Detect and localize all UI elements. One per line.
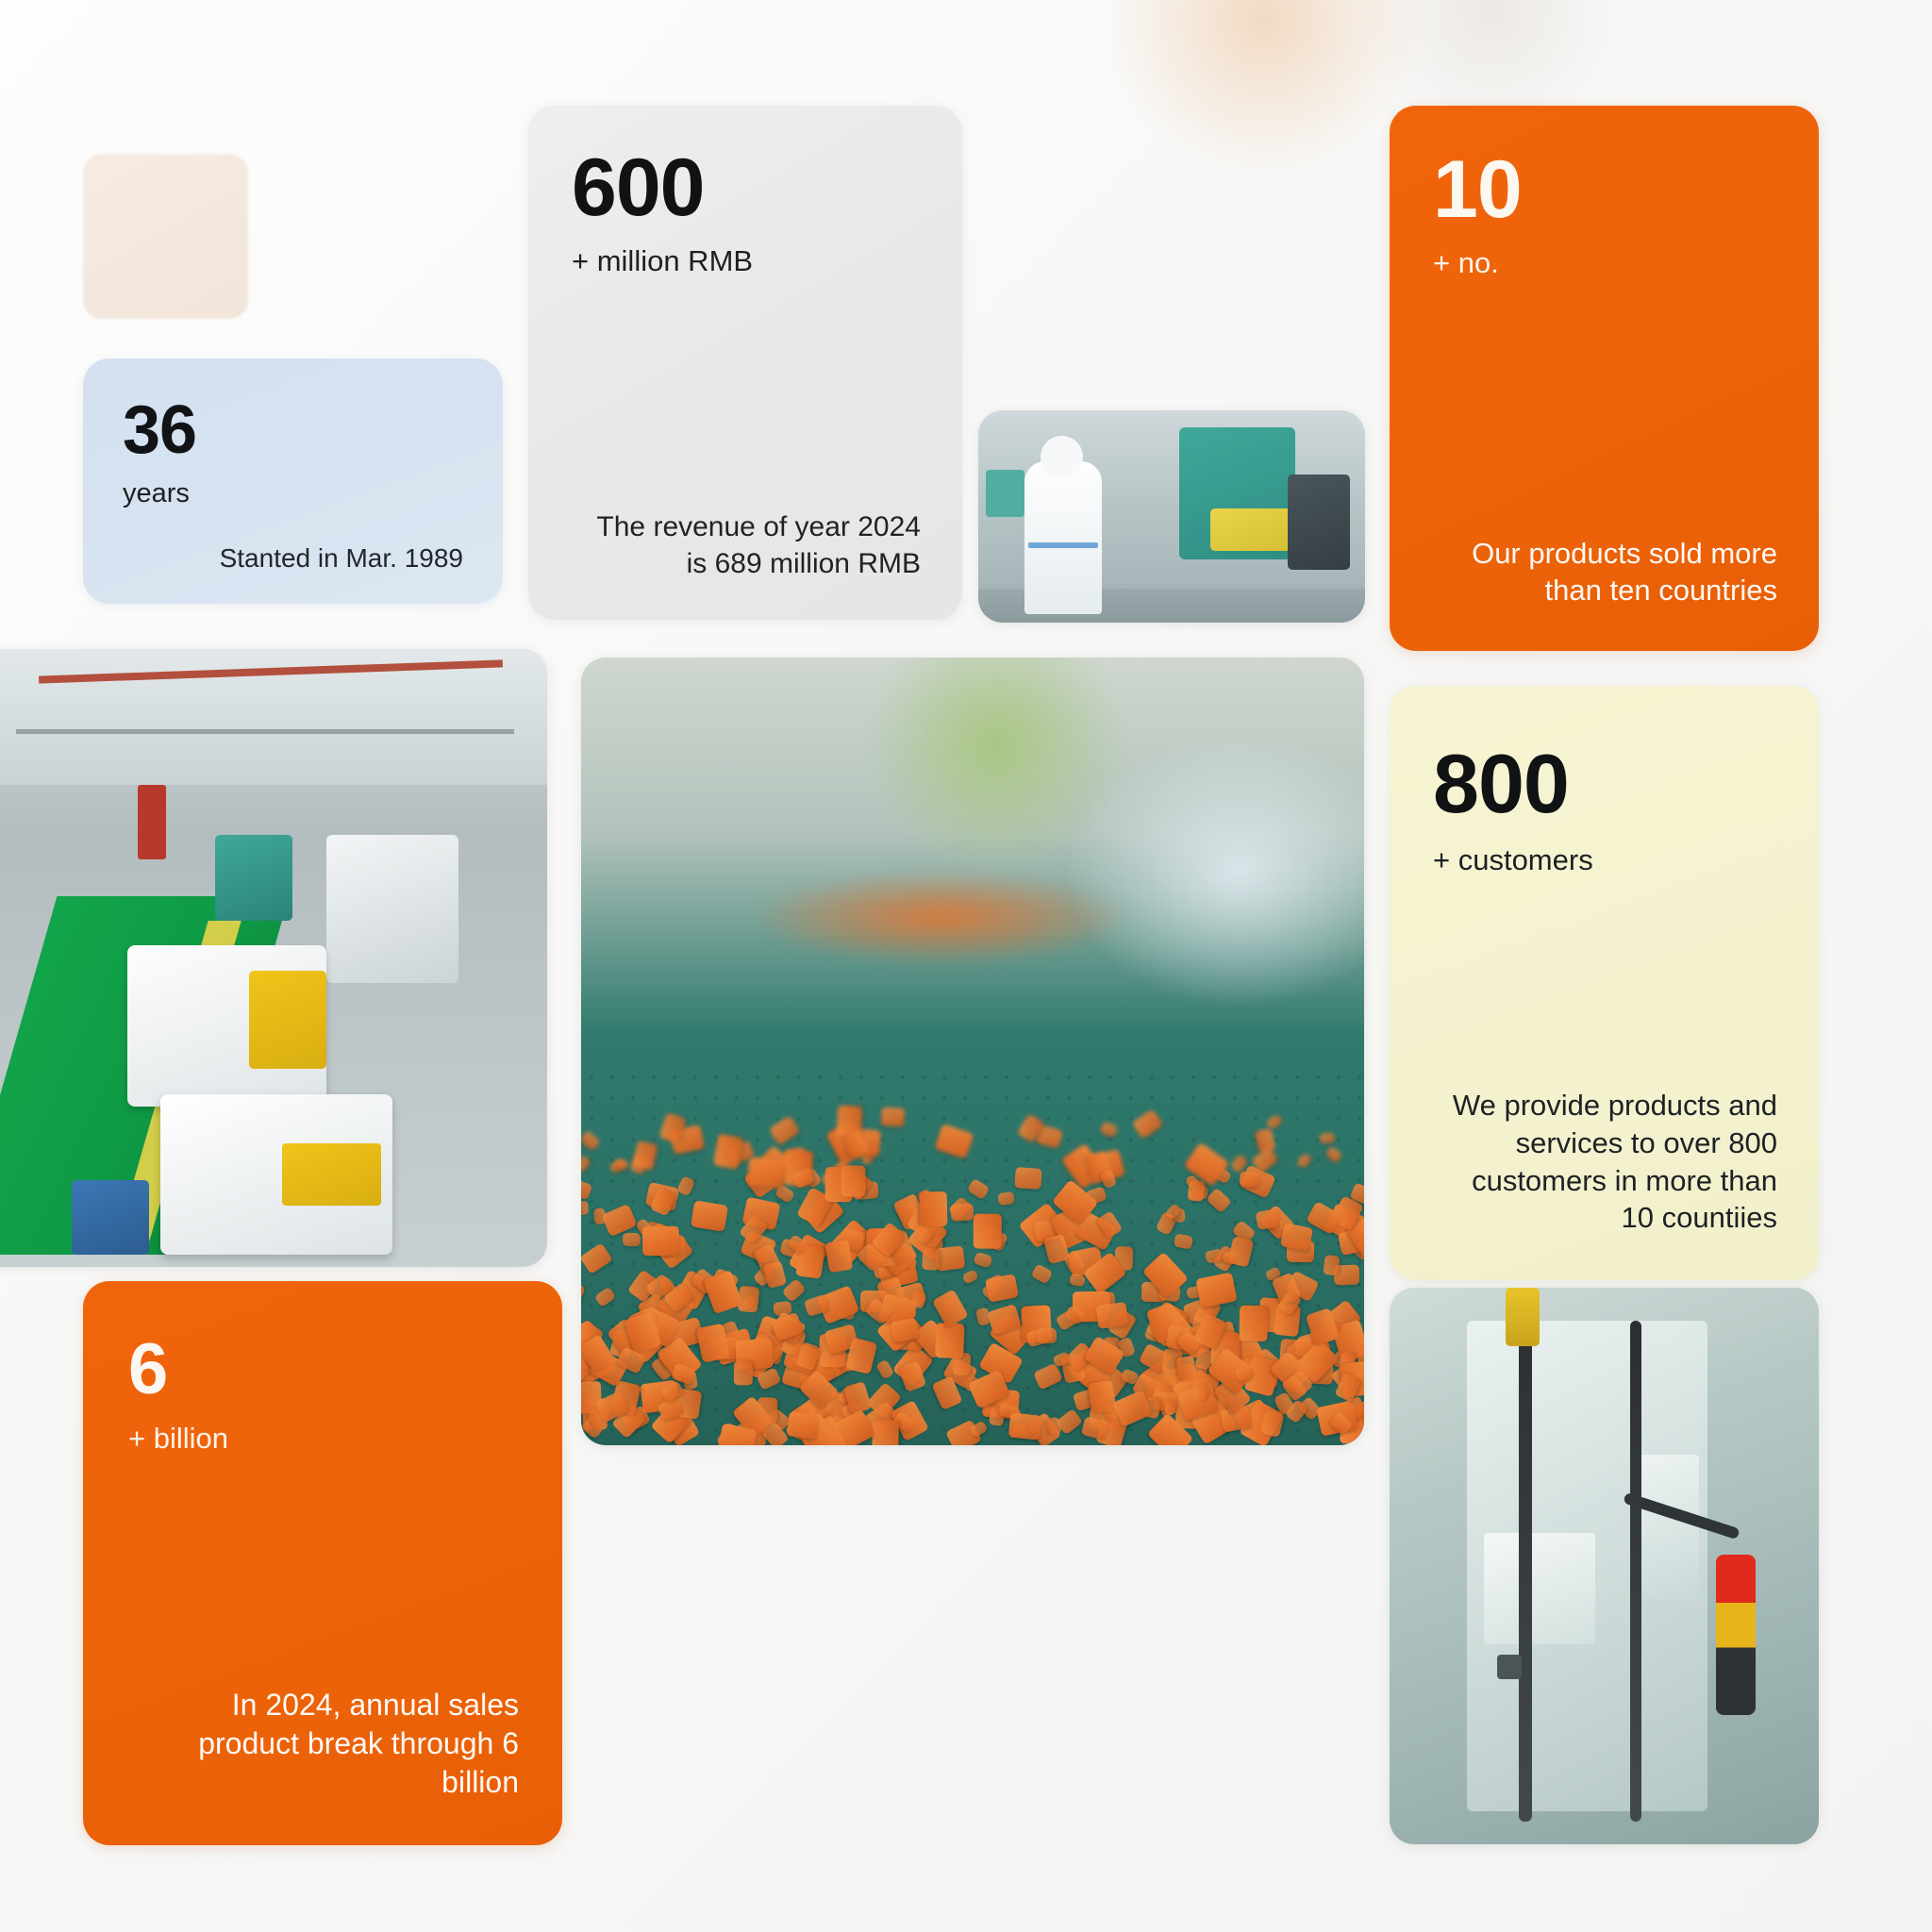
cleanroom-operator-photo [978, 410, 1365, 623]
automation-machinery-photo [1390, 1288, 1819, 1844]
pellet [786, 1411, 819, 1439]
pellet [962, 1269, 979, 1284]
stat-unit-customers: + customers [1433, 842, 1777, 877]
pellet [768, 1115, 800, 1145]
photo-beam-grey [16, 729, 513, 734]
pellet [1196, 1272, 1238, 1307]
pellet [1323, 1255, 1340, 1276]
pellet [872, 1420, 898, 1445]
stat-number-billion: 6 [128, 1334, 519, 1406]
pellet [1295, 1153, 1312, 1170]
stat-description-billion: In 2024, annual sales product break thro… [128, 1686, 519, 1802]
pellet [1206, 1187, 1232, 1212]
stat-card-years[interactable]: 36 years Stanted in Mar. 1989 [83, 358, 503, 604]
pellet [890, 1318, 919, 1342]
photo-machine-far [326, 835, 459, 983]
pellet [1031, 1263, 1054, 1284]
pellet [632, 1141, 658, 1171]
pellet [581, 1129, 601, 1151]
pellet [1324, 1145, 1343, 1164]
pellet [974, 1213, 1002, 1249]
photo-pellet-pile [581, 1083, 1364, 1445]
pellet [1175, 1356, 1197, 1382]
pellet [919, 1191, 947, 1226]
pellet [734, 1360, 753, 1385]
stat-card-revenue[interactable]: 600 + million RMB The revenue of year 20… [528, 106, 962, 620]
pellet [581, 1178, 592, 1201]
pellet [1095, 1302, 1128, 1329]
photo-worker-body [1024, 461, 1102, 614]
pellet [985, 1274, 1019, 1303]
pellet [1036, 1327, 1056, 1342]
pellet [997, 1191, 1015, 1206]
pellet [1280, 1223, 1314, 1251]
pellet [1260, 1409, 1285, 1438]
pellet [1014, 1167, 1041, 1190]
stat-description-customers: We provide products and services to over… [1433, 1087, 1777, 1237]
pellet [594, 1287, 616, 1307]
pellet [1164, 1400, 1176, 1415]
stat-number-revenue: 600 [572, 147, 921, 228]
pellet [1132, 1108, 1164, 1140]
pellet [676, 1175, 695, 1197]
pellet [581, 1201, 589, 1215]
decorative-square [83, 154, 248, 319]
pellet [974, 1251, 993, 1268]
pellet [642, 1225, 680, 1256]
photo-machine-yellow [1210, 508, 1295, 551]
pellet [747, 1157, 787, 1189]
pellet [1173, 1233, 1192, 1249]
photo-far-pellets [754, 870, 1129, 964]
orange-pellets-photo [581, 658, 1364, 1445]
factory-hall-photo [0, 649, 547, 1267]
pellet [581, 1242, 613, 1274]
stat-description-revenue: The revenue of year 2024 is 689 million … [572, 509, 921, 582]
photo-machine-teal [215, 835, 292, 922]
pellet [824, 1240, 853, 1274]
stat-unit-billion: + billion [128, 1421, 519, 1456]
photo-signal-tower [1716, 1555, 1756, 1715]
photo-worker-head [1041, 436, 1083, 478]
stat-card-countries[interactable]: 10 + no. Our products sold more than ten… [1390, 106, 1819, 651]
pellet [1099, 1121, 1119, 1138]
pellet [1320, 1133, 1335, 1144]
pellet [932, 1290, 969, 1328]
stat-card-customers[interactable]: 800 + customers We provide products and … [1390, 686, 1819, 1280]
infographic-stage: 36 years Stanted in Mar. 1989 600 + mill… [0, 0, 1932, 1932]
pellet [691, 1200, 728, 1232]
photo-machine-near-accent [282, 1143, 381, 1206]
pellet [880, 1107, 906, 1126]
photo-machine-dark [1288, 475, 1350, 570]
stat-unit-revenue: + million RMB [572, 243, 921, 278]
pellet [841, 1166, 865, 1197]
photo-machine-red [138, 785, 165, 859]
photo-machine-mid-accent [249, 971, 326, 1070]
stat-description-years: Stanted in Mar. 1989 [123, 541, 463, 575]
photo-green-box [986, 470, 1024, 517]
pellet [581, 1281, 586, 1306]
photo-rod-left [1519, 1299, 1532, 1823]
pellet [950, 1203, 974, 1222]
pellet [922, 1248, 940, 1271]
photo-bin-blue [72, 1180, 149, 1255]
pellet [623, 1233, 641, 1247]
photo-worker-stripe [1028, 542, 1098, 549]
pellet [934, 1124, 974, 1159]
stat-number-countries: 10 [1433, 149, 1777, 230]
stat-number-years: 36 [123, 396, 463, 464]
pellet [581, 1154, 592, 1174]
photo-rod-right [1630, 1321, 1641, 1822]
stat-unit-countries: + no. [1433, 245, 1777, 280]
pellet [712, 1133, 743, 1170]
stat-card-billion[interactable]: 6 + billion In 2024, annual sales produc… [83, 1281, 562, 1845]
pellet [875, 1358, 895, 1379]
stat-unit-years: years [123, 477, 463, 510]
photo-yellow-cap [1506, 1288, 1540, 1346]
pellet [1240, 1171, 1260, 1188]
photo-knob [1497, 1655, 1522, 1679]
stat-number-customers: 800 [1433, 742, 1777, 825]
pellet [935, 1323, 964, 1359]
pellet [1008, 1412, 1041, 1440]
pellet [602, 1204, 639, 1237]
pellet [1187, 1179, 1205, 1201]
pellet [1239, 1306, 1268, 1341]
photo-plate-lower [1484, 1533, 1595, 1644]
pellet [966, 1178, 990, 1201]
stat-description-countries: Our products sold more than ten countrie… [1433, 535, 1777, 609]
